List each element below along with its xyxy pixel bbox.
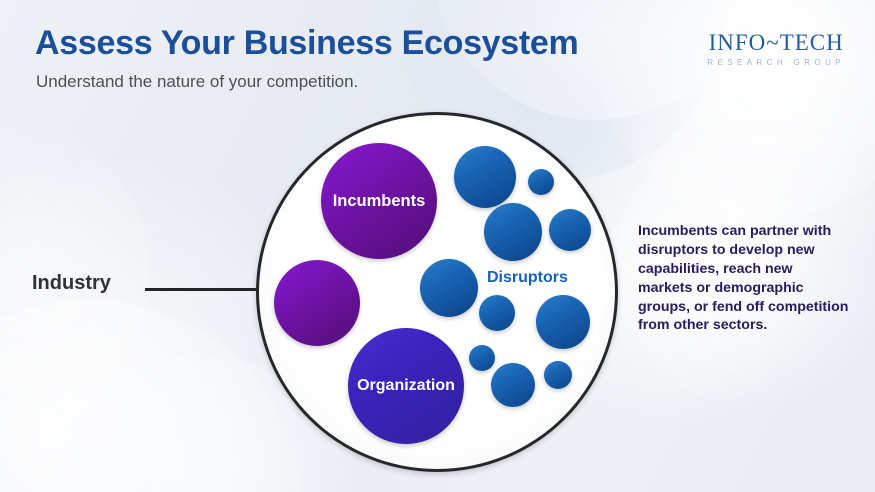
bubble-organization: Organization	[348, 328, 464, 444]
page-subtitle: Understand the nature of your competitio…	[36, 72, 358, 92]
bubble-disruptor	[528, 169, 554, 195]
bubble-incumbents: Incumbents	[321, 143, 437, 259]
slide-canvas: Assess Your Business Ecosystem Understan…	[0, 0, 875, 492]
bubble-disruptor	[479, 295, 515, 331]
bubble-disruptor	[420, 259, 478, 317]
bubble-disruptor	[544, 361, 572, 389]
bubble-disruptor	[491, 363, 535, 407]
bubble-disruptor	[274, 260, 360, 346]
bubble-disruptor	[549, 209, 591, 251]
info-tech-logo: INFO~TECH RESEARCH GROUP	[707, 31, 845, 67]
bubble-disruptor	[469, 345, 495, 371]
bubble-label: Organization	[357, 377, 455, 395]
background-blob	[0, 120, 150, 420]
bubble-disruptor	[454, 146, 516, 208]
insight-note: Incumbents can partner with disruptors t…	[638, 222, 850, 335]
bubble-disruptor	[484, 203, 542, 261]
industry-connector-line	[145, 288, 258, 291]
background-blob	[0, 300, 300, 492]
industry-label: Industry	[32, 272, 111, 295]
bubble-disruptor	[536, 295, 590, 349]
logo-tagline: RESEARCH GROUP	[707, 59, 845, 67]
page-title: Assess Your Business Ecosystem	[35, 24, 578, 63]
bubble-label: Incumbents	[333, 192, 426, 211]
logo-wordmark: INFO~TECH	[707, 31, 845, 54]
disruptors-label: Disruptors	[487, 269, 568, 287]
